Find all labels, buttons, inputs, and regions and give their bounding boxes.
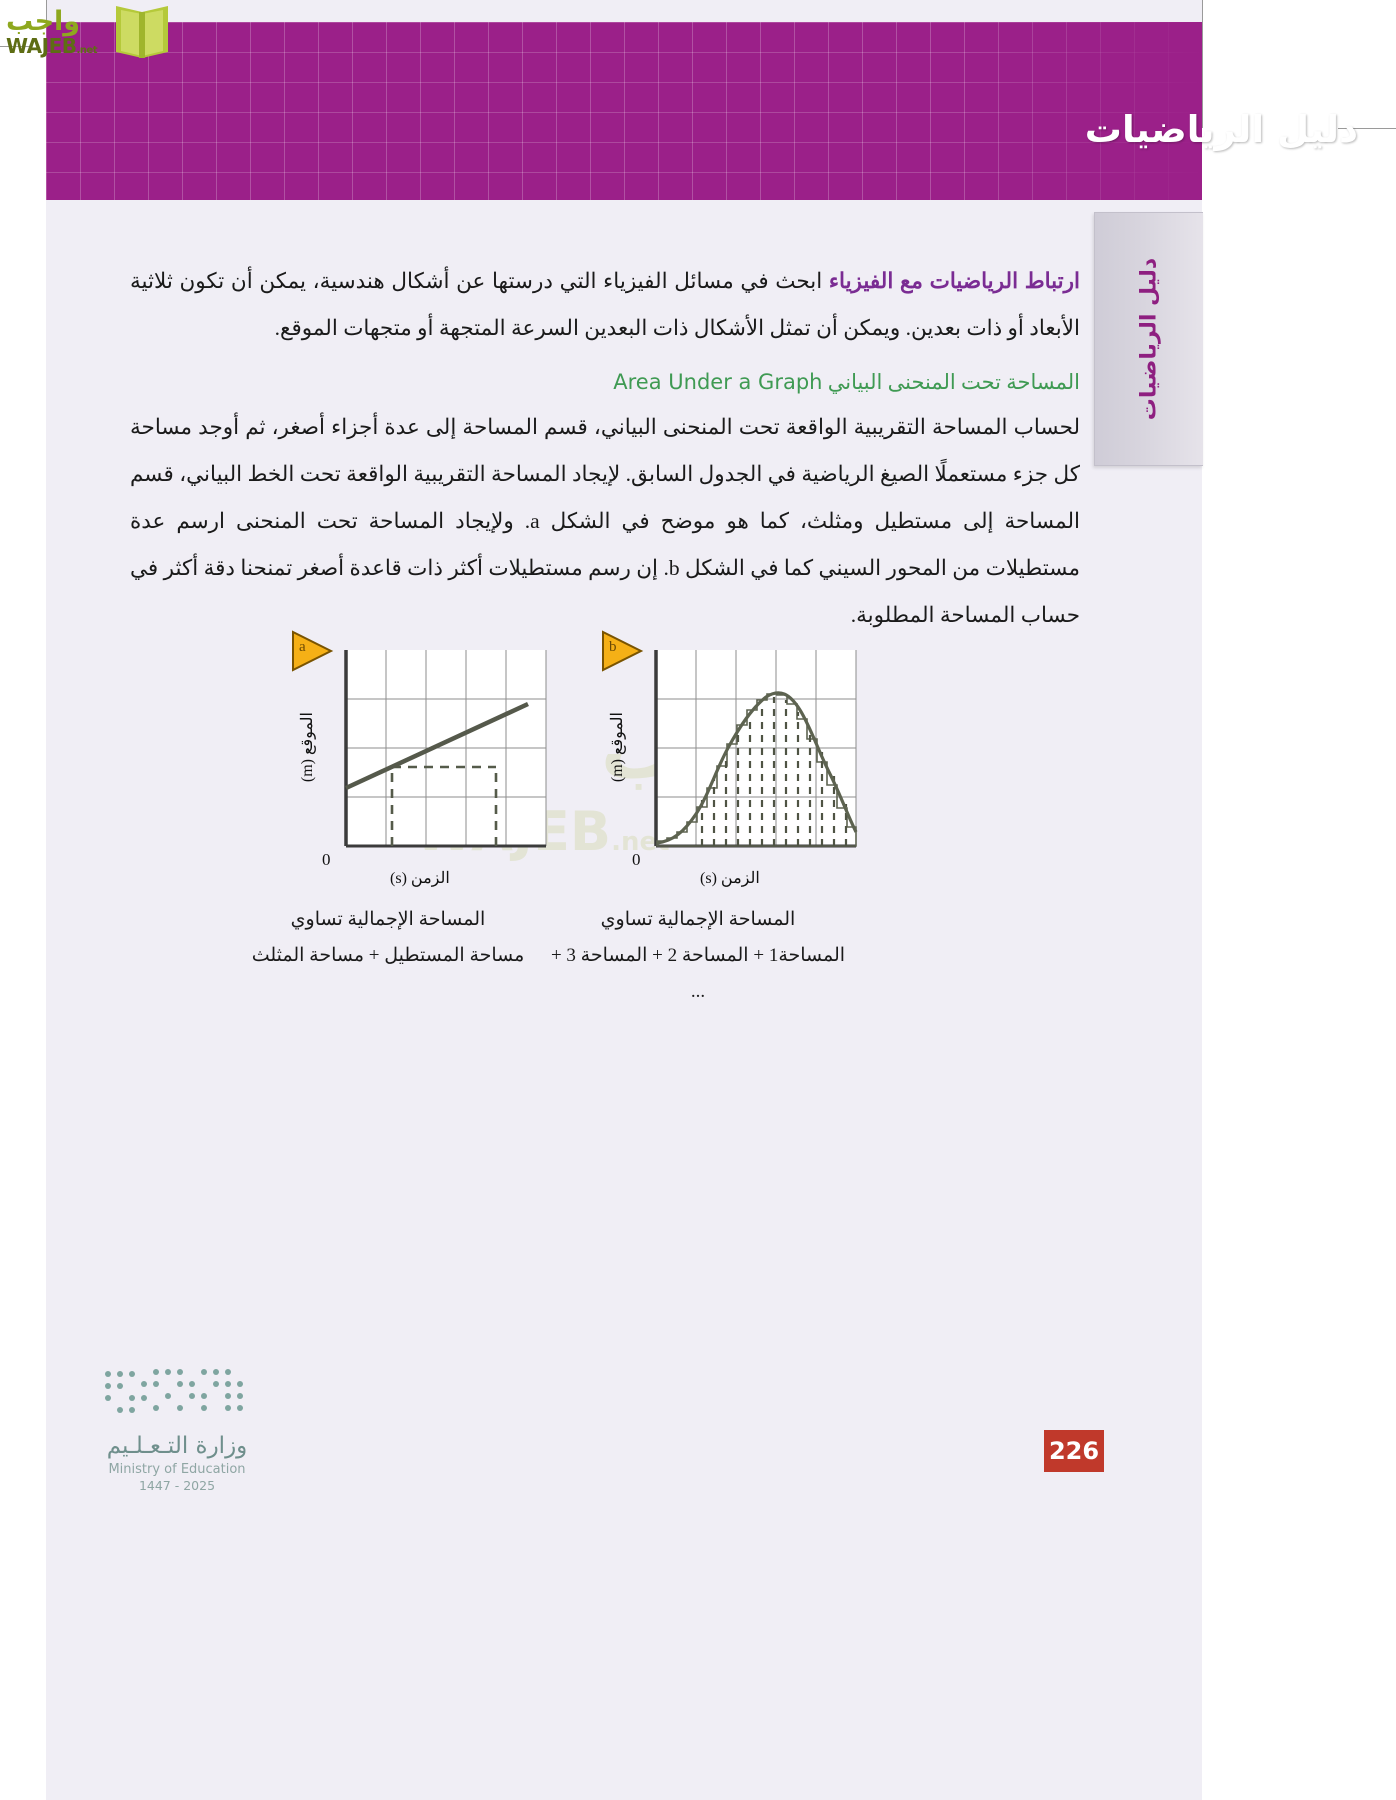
triangle-marker-icon [600,630,644,672]
figure-b-caption-line1: المساحة الإجمالية تساوي [548,902,848,938]
figure-a-origin-label: 0 [322,850,331,870]
figure-a-caption-line2: مساحة المستطيل + مساحة المثلث [238,938,538,974]
triangle-marker-icon [290,630,334,672]
ministry-name-arabic: وزارة التـعـلـيم [62,1433,292,1459]
figure-b-origin-label: 0 [632,850,641,870]
figure-a-plot [338,646,552,858]
figure-b-marker-label: b [609,639,617,656]
figure-a-x-axis-label: الزمن (s) [390,868,450,888]
figures-row: a الموقع (m) 0 الزمن (s) [280,620,1000,1000]
ministry-name-english: Ministry of Education [62,1462,292,1477]
section-heading: المساحة تحت المنحنى البياني Area Under a… [130,362,1080,402]
section-heading-arabic: المساحة تحت المنحنى البياني [828,370,1080,394]
page-margin-left [0,0,46,1800]
ministry-of-education-logo: وزارة التـعـلـيم Ministry of Education 2… [62,1366,292,1516]
section-heading-english: Area Under a Graph [613,362,822,402]
keyword-math-physics-link: ارتباط الرياضيات مع الفيزياء [829,269,1080,293]
ministry-years: 2025 - 1447 [62,1478,292,1493]
page-header-banner [46,22,1202,200]
logo-arabic-text: واجب [6,6,80,37]
page-margin-right [1202,0,1396,1800]
sidebar-tab-math-guide[interactable]: دليل الرياضيات [1094,212,1203,466]
wajeb-logo: واجب WAJEB.net [4,2,184,64]
figure-ref-b: b [669,545,680,592]
figure-b-caption: المساحة الإجمالية تساوي المساحة1 + المسا… [548,902,848,1010]
figure-b-plot [648,646,862,858]
page-title: دليل الرياضيات [1085,108,1358,151]
logo-english-text: WAJEB.net [6,34,97,58]
paragraph-intro: ارتباط الرياضيات مع الفيزياء ابحث في مسا… [130,258,1080,352]
figure-b-y-axis-label: الموقع (m) [608,712,627,782]
open-book-icon [112,2,172,60]
figure-a-marker-label: a [299,639,306,656]
page-root: دليل الرياضيات واجب WAJEB.net دليل الريا… [0,0,1396,1800]
paragraph-area-under-graph: لحساب المساحة التقريبية الواقعة تحت المن… [130,404,1080,639]
figure-ref-a: a [530,498,540,545]
figure-a-y-axis-label: الموقع (m) [298,712,317,782]
moe-dot-pattern-icon [102,1366,252,1422]
figure-a-caption: المساحة الإجمالية تساوي مساحة المستطيل +… [238,902,538,974]
main-content: ارتباط الرياضيات مع الفيزياء ابحث في مسا… [130,258,1080,643]
figure-b-x-axis-label: الزمن (s) [700,868,760,888]
page-number-badge: 226 [1044,1430,1104,1472]
figure-a-caption-line1: المساحة الإجمالية تساوي [238,902,538,938]
figure-b-caption-line2: المساحة1 + المساحة 2 + المساحة 3 + ... [548,938,848,1010]
sidebar-tab-label: دليل الرياضيات [1137,258,1162,420]
